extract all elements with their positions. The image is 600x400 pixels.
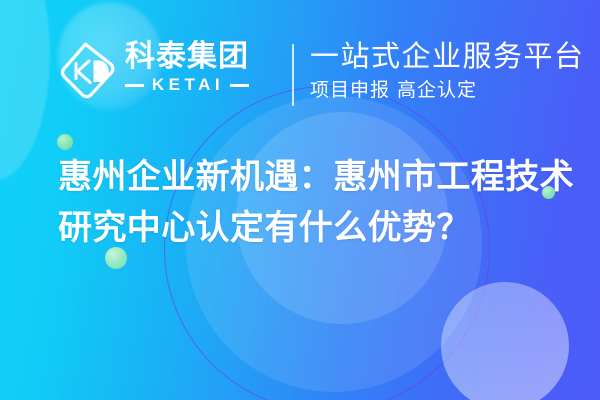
accent-dot-green-left bbox=[57, 134, 73, 150]
promo-banner: 科泰集团 KETAI 一站式企业服务平台 项目申报 高企认定 惠州企业新机遇：惠… bbox=[0, 0, 600, 400]
brand-wordmark: 科泰集团 KETAI bbox=[125, 40, 249, 94]
slogan-secondary: 项目申报 高企认定 bbox=[310, 77, 585, 103]
page-title-line-1: 惠州企业新机遇：惠州市工程技术 bbox=[58, 152, 558, 203]
brand-logo[interactable]: 科泰集团 KETAI bbox=[60, 40, 249, 99]
wordmark-rule-left bbox=[125, 84, 144, 87]
slogan-primary: 一站式企业服务平台 bbox=[310, 38, 585, 74]
brand-name-en: KETAI bbox=[144, 76, 230, 94]
banner-header: 科泰集团 KETAI 一站式企业服务平台 项目申报 高企认定 bbox=[0, 0, 600, 118]
page-title: 惠州企业新机遇：惠州市工程技术 研究中心认定有什么优势？ bbox=[58, 152, 558, 254]
brand-name-en-row: KETAI bbox=[125, 76, 249, 94]
ketai-diamond-kd-monogram-icon bbox=[60, 41, 116, 99]
page-title-line-2: 研究中心认定有什么优势？ bbox=[58, 203, 558, 254]
header-divider bbox=[292, 44, 294, 106]
wordmark-rule-right bbox=[230, 84, 249, 87]
decorative-circle-bottom-right bbox=[441, 282, 569, 400]
brand-name-cn: 科泰集团 bbox=[125, 40, 249, 74]
header-slogan: 一站式企业服务平台 项目申报 高企认定 bbox=[310, 38, 585, 103]
